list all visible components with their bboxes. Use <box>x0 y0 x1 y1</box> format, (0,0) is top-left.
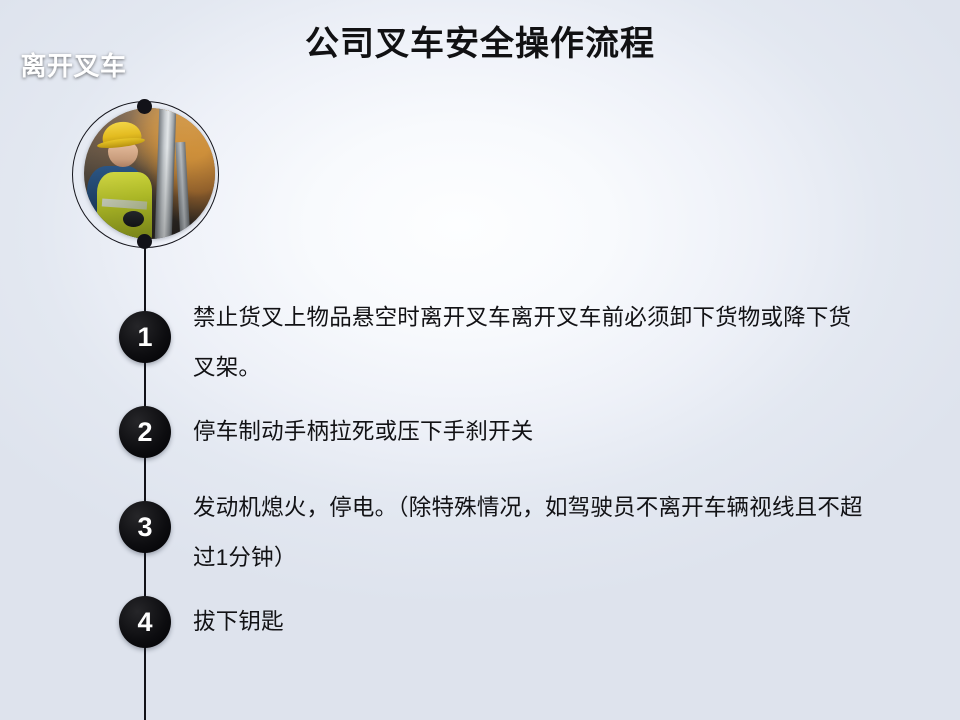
photo-vignette <box>84 108 215 239</box>
step-text-2: 停车制动手柄拉死或压下手刹开关 <box>193 407 873 457</box>
step-number-badge-4: 4 <box>119 596 171 648</box>
page-title: 公司叉车安全操作流程 <box>0 21 960 67</box>
hero-photo-circle <box>72 101 219 248</box>
step-number-badge-1: 1 <box>119 311 171 363</box>
slide-canvas: 公司叉车安全操作流程 离开叉车 1 禁止货叉上物品悬空时离开叉车离开叉车前必须卸… <box>0 0 960 720</box>
ring-dot-bottom-icon <box>137 234 152 249</box>
forklift-operator-photo <box>84 108 215 239</box>
step-number-badge-2: 2 <box>119 406 171 458</box>
ring-dot-top-icon <box>137 99 152 114</box>
step-number-badge-3: 3 <box>119 501 171 553</box>
step-text-3: 发动机熄火，停电。（除特殊情况，如驾驶员不离开车辆视线且不超过1分钟） <box>193 483 873 583</box>
step-text-1: 禁止货叉上物品悬空时离开叉车离开叉车前必须卸下货物或降下货叉架。 <box>193 293 873 393</box>
step-text-4: 拔下钥匙 <box>193 597 873 647</box>
